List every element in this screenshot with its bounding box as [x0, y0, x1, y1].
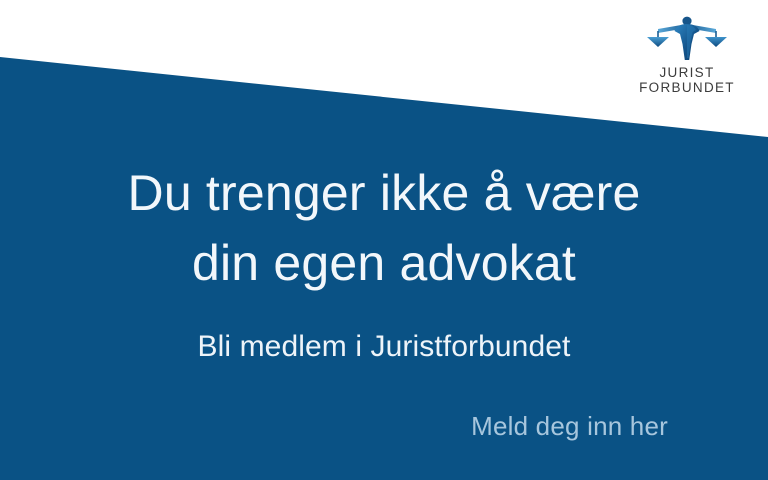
cta-label[interactable]: Meld deg inn her	[471, 411, 668, 441]
headline: Du trenger ikke å være din egen advokat	[0, 158, 768, 298]
scales-of-justice-icon	[644, 14, 730, 62]
cta-link[interactable]: Meld deg inn her	[471, 408, 668, 444]
headline-line-1: Du trenger ikke å være	[0, 158, 768, 228]
headline-line-2: din egen advokat	[0, 228, 768, 298]
subtitle-text: Bli medlem i Juristforbundet	[198, 330, 571, 363]
brand-wordmark-line1: JURIST	[628, 66, 746, 81]
brand-wordmark-line2: FORBUNDET	[628, 81, 746, 96]
brand-logo[interactable]: JURIST FORBUNDET	[628, 14, 746, 95]
advertisement-banner: JURIST FORBUNDET Du trenger ikke å være …	[0, 0, 768, 480]
subtitle: Bli medlem i Juristforbundet	[0, 327, 768, 367]
brand-wordmark: JURIST FORBUNDET	[628, 66, 746, 95]
